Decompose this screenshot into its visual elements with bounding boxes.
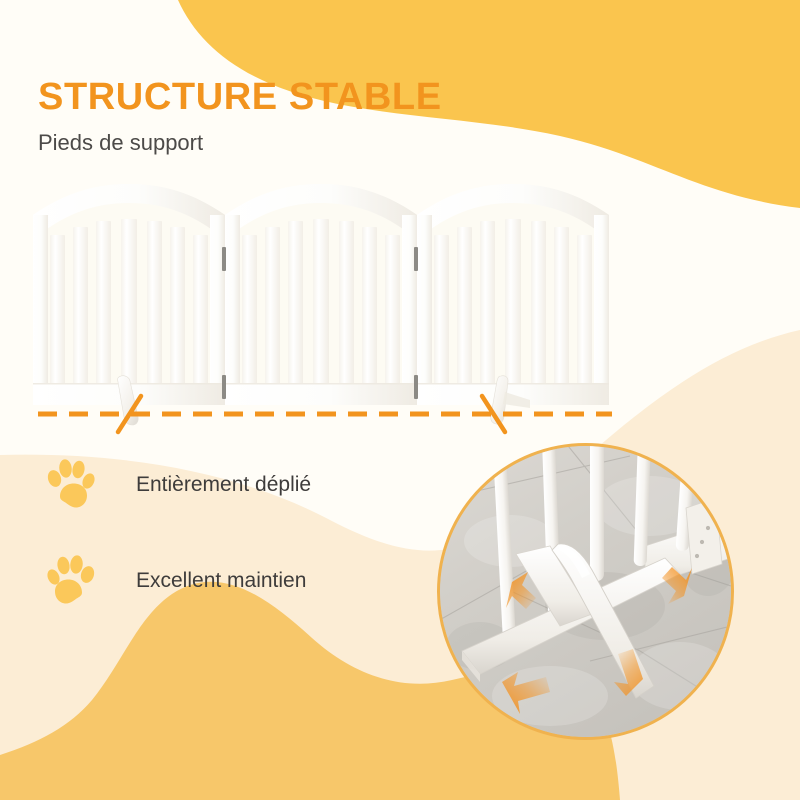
gros-plan-pied-de-support	[437, 443, 734, 740]
gate-panel-3	[417, 184, 609, 405]
gate-panel-1	[33, 184, 225, 405]
infographic-canvas: STRUCTURE STABLE Pieds de support	[0, 0, 800, 800]
list-item-label: Entièrement déplié	[136, 474, 311, 495]
feature-list: Entièrement déplié Excellent maintien	[44, 452, 444, 644]
gate-panel-2	[225, 184, 417, 405]
photo-content	[440, 446, 731, 737]
list-item: Excellent maintien	[44, 548, 444, 612]
paw-icon	[44, 457, 98, 511]
list-item-label: Excellent maintien	[136, 570, 306, 591]
paw-icon	[44, 553, 98, 607]
list-item: Entièrement déplié	[44, 452, 444, 516]
